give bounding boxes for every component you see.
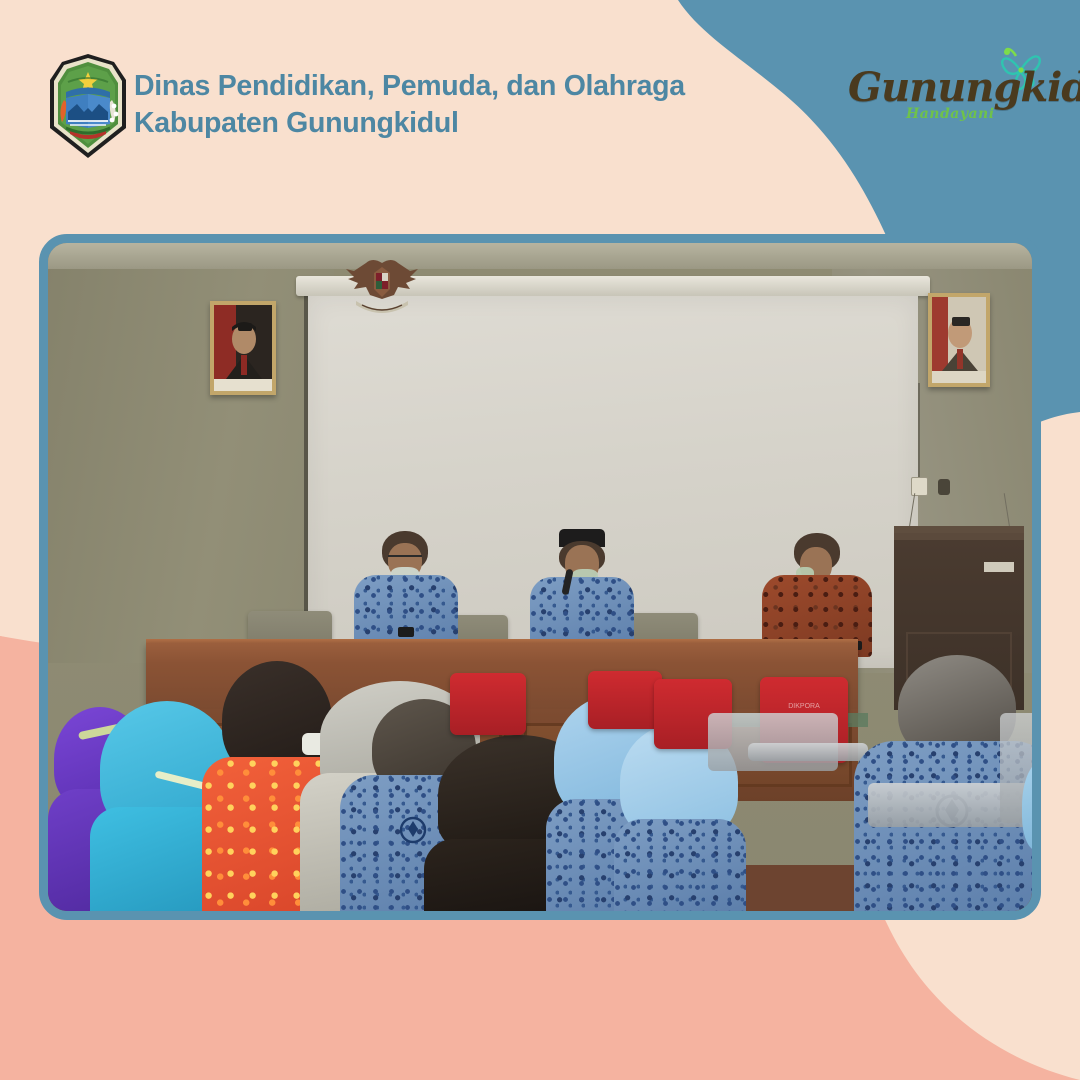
portrait-vice-president <box>928 293 990 387</box>
chair-brand-label: DIKPORA <box>760 703 848 710</box>
chair-seat <box>748 743 868 761</box>
poster-footer: @dikpora_gk pendidikan.gunungkidulkab.go… <box>0 930 1080 1080</box>
red-chair <box>588 671 662 729</box>
garuda-pancasila-emblem-icon <box>340 255 424 321</box>
ceiling-cord <box>918 383 920 479</box>
chair-frame <box>708 713 838 771</box>
meeting-room-photograph: DIKPORA <box>48 243 1032 911</box>
audience-member <box>1022 761 1032 911</box>
brand-tagline: Handayani <box>906 106 995 122</box>
red-chair <box>450 673 526 735</box>
page-title: Dinas Pendidikan, Pemuda, dan Olahraga K… <box>134 68 754 142</box>
portrait-president-image <box>214 305 272 391</box>
gunungkidul-regency-crest-icon <box>44 52 132 160</box>
room-wall-left <box>48 243 334 663</box>
panelist-center <box>526 529 638 657</box>
org-title-line-1: Dinas Pendidikan, Pemuda, dan Olahraga <box>134 70 685 102</box>
photo-card: DIKPORA <box>39 234 1041 920</box>
eyeglasses-icon <box>388 555 422 563</box>
ceiling-beam <box>48 243 1032 269</box>
mobile-phone <box>398 627 414 637</box>
portrait-vice-president-image <box>932 297 986 383</box>
cabinet-label <box>984 562 1014 572</box>
audience-korpri-shirt <box>614 819 746 911</box>
wall-plug-icon <box>938 479 950 495</box>
org-title-line-2: Kabupaten Gunungkidul <box>134 105 754 142</box>
poster-canvas: Dinas Pendidikan, Pemuda, dan Olahraga K… <box>0 0 1080 1080</box>
gunungkidul-brand-logo: Gunungkidul Handayani <box>842 36 1058 128</box>
poster-header: Dinas Pendidikan, Pemuda, dan Olahraga K… <box>0 0 1080 190</box>
brand-wordmark: Gunungkidul <box>848 64 1080 111</box>
portrait-president <box>210 301 276 395</box>
hijab <box>1022 761 1032 851</box>
